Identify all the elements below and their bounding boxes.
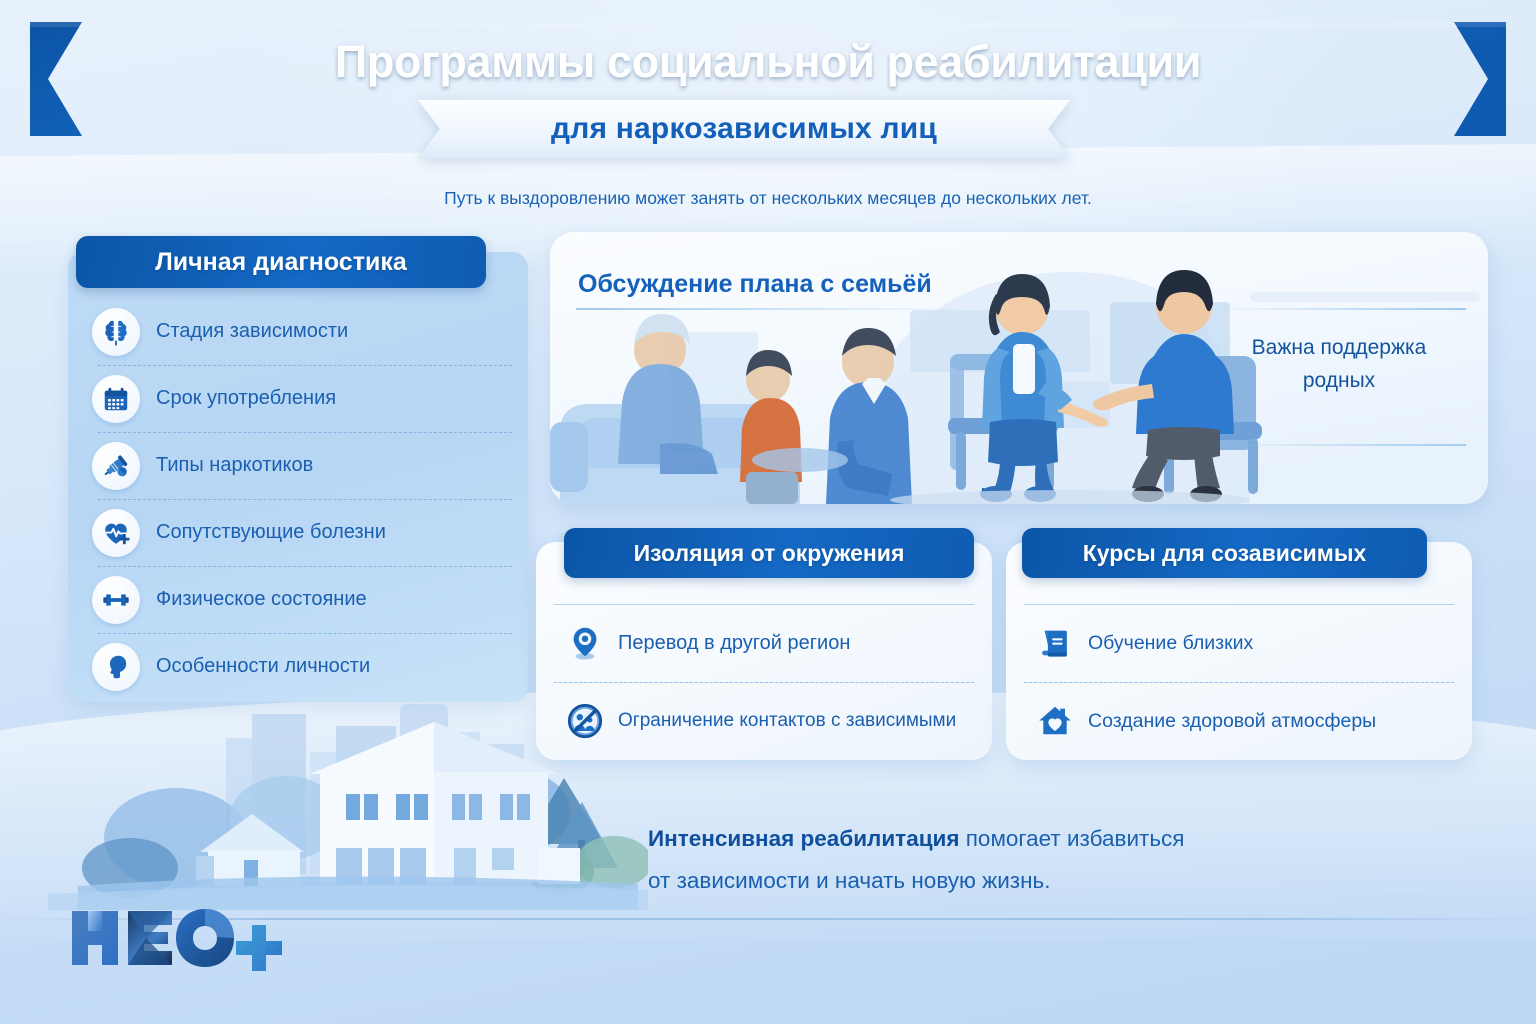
list-item-label: Особенности личности xyxy=(156,655,370,678)
list-item[interactable]: Перевод в другой регион xyxy=(536,604,992,682)
list-item[interactable]: Сопутствующие болезни xyxy=(68,499,528,566)
list-item[interactable]: Стадия зависимости xyxy=(68,298,528,365)
list-item-label: Обучение близких xyxy=(1088,632,1253,655)
isolation-card-title: Изоляция от окружения xyxy=(634,540,905,567)
list-item-label: Сопутствующие болезни xyxy=(156,521,386,544)
family-discussion-title: Обсуждение плана с семьёй xyxy=(578,270,932,299)
list-item-label: Типы наркотиков xyxy=(156,454,313,477)
footer-strong: Интенсивная реабилитация xyxy=(648,826,960,851)
page-subtitle: для наркозависимых лиц xyxy=(418,100,1070,158)
codependent-card-header: Курсы для созависимых xyxy=(1022,528,1427,578)
map-pin-icon xyxy=(564,622,606,664)
list-item[interactable]: Физическое состояние xyxy=(68,566,528,633)
footer-statement: Интенсивная реабилитация помогает избави… xyxy=(648,818,1308,901)
list-item[interactable]: Обучение близких xyxy=(1006,604,1472,682)
calendar-icon xyxy=(92,375,140,423)
list-item-label: Физическое состояние xyxy=(156,588,367,611)
hero-divider-left xyxy=(576,308,966,310)
dumbbell-icon xyxy=(92,576,140,624)
list-item-label: Ограничение контактов с зависимыми xyxy=(618,710,956,732)
hero-divider-right-bottom xyxy=(1214,444,1466,446)
list-item-label: Создание здоровой атмосферы xyxy=(1088,710,1376,733)
syringe-pills-icon xyxy=(92,442,140,490)
list-item[interactable]: Создание здоровой атмосферы xyxy=(1006,682,1472,760)
house-neighborhood-illustration xyxy=(48,690,648,910)
infographic-poster: Программы социальной реабилитации для на… xyxy=(0,0,1536,1024)
list-item-label: Срок употребления xyxy=(156,387,336,410)
diagnostics-list: Стадия зависимости xyxy=(68,298,528,700)
footer-line-1: Интенсивная реабилитация помогает избави… xyxy=(648,818,1308,860)
list-item-label: Стадия зависимости xyxy=(156,320,348,343)
list-item[interactable]: Типы наркотиков xyxy=(68,432,528,499)
diagnostics-panel-title: Личная диагностика xyxy=(155,248,407,277)
head-profile-icon xyxy=(92,643,140,691)
house-heart-icon xyxy=(1034,700,1076,742)
book-icon xyxy=(1034,622,1076,664)
list-item-label: Перевод в другой регион xyxy=(618,632,850,655)
lead-paragraph: Путь к выздоровлению может занять от нес… xyxy=(0,188,1536,209)
list-item[interactable]: Срок употребления xyxy=(68,365,528,432)
diagnostics-panel-header: Личная диагностика xyxy=(76,236,486,288)
family-discussion-card: Обсуждение плана с семьёй Важна поддержк… xyxy=(550,232,1488,504)
heart-plus-icon xyxy=(92,509,140,557)
codependent-card-rows: Обучение близких Создание здоровой атмос… xyxy=(1006,604,1472,760)
footer-rest: помогает избавиться xyxy=(960,826,1185,851)
page-title: Программы социальной реабилитации xyxy=(0,36,1536,88)
family-support-note: Важна поддержка родных xyxy=(1214,332,1464,397)
brain-icon xyxy=(92,308,140,356)
subtitle-banner: для наркозависимых лиц xyxy=(418,100,1070,158)
codependent-card-title: Курсы для созависимых xyxy=(1083,540,1367,567)
isolation-card-header: Изоляция от окружения xyxy=(564,528,974,578)
hero-divider-right-top xyxy=(1214,308,1466,310)
neo-plus-logo[interactable] xyxy=(66,905,306,971)
footer-line-2: от зависимости и начать новую жизнь. xyxy=(648,860,1308,902)
